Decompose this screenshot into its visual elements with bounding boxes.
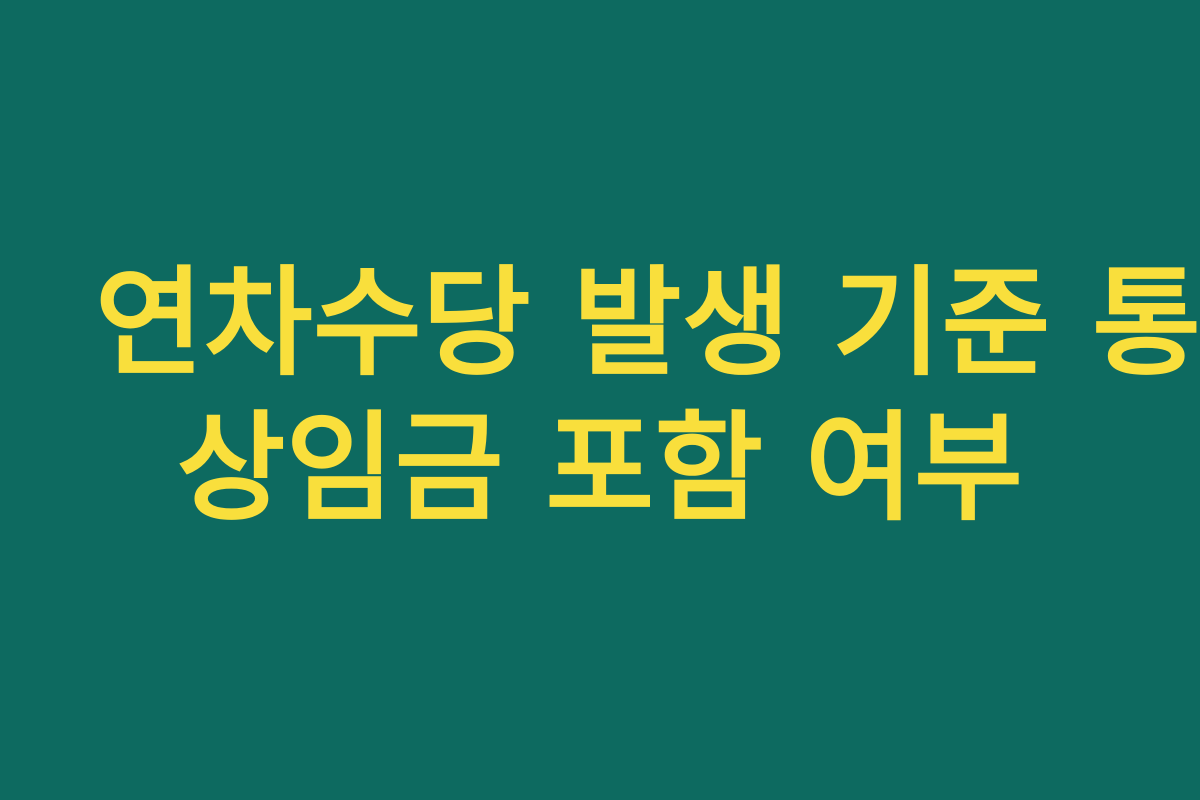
title-line-2: 상임금 포함 여부	[95, 396, 1105, 541]
page-title: 연차수당 발생 기준 통 상임금 포함 여부	[95, 251, 1105, 549]
title-line-1: 연차수당 발생 기준 통	[95, 251, 1105, 396]
title-card: 연차수당 발생 기준 통 상임금 포함 여부	[0, 0, 1200, 800]
